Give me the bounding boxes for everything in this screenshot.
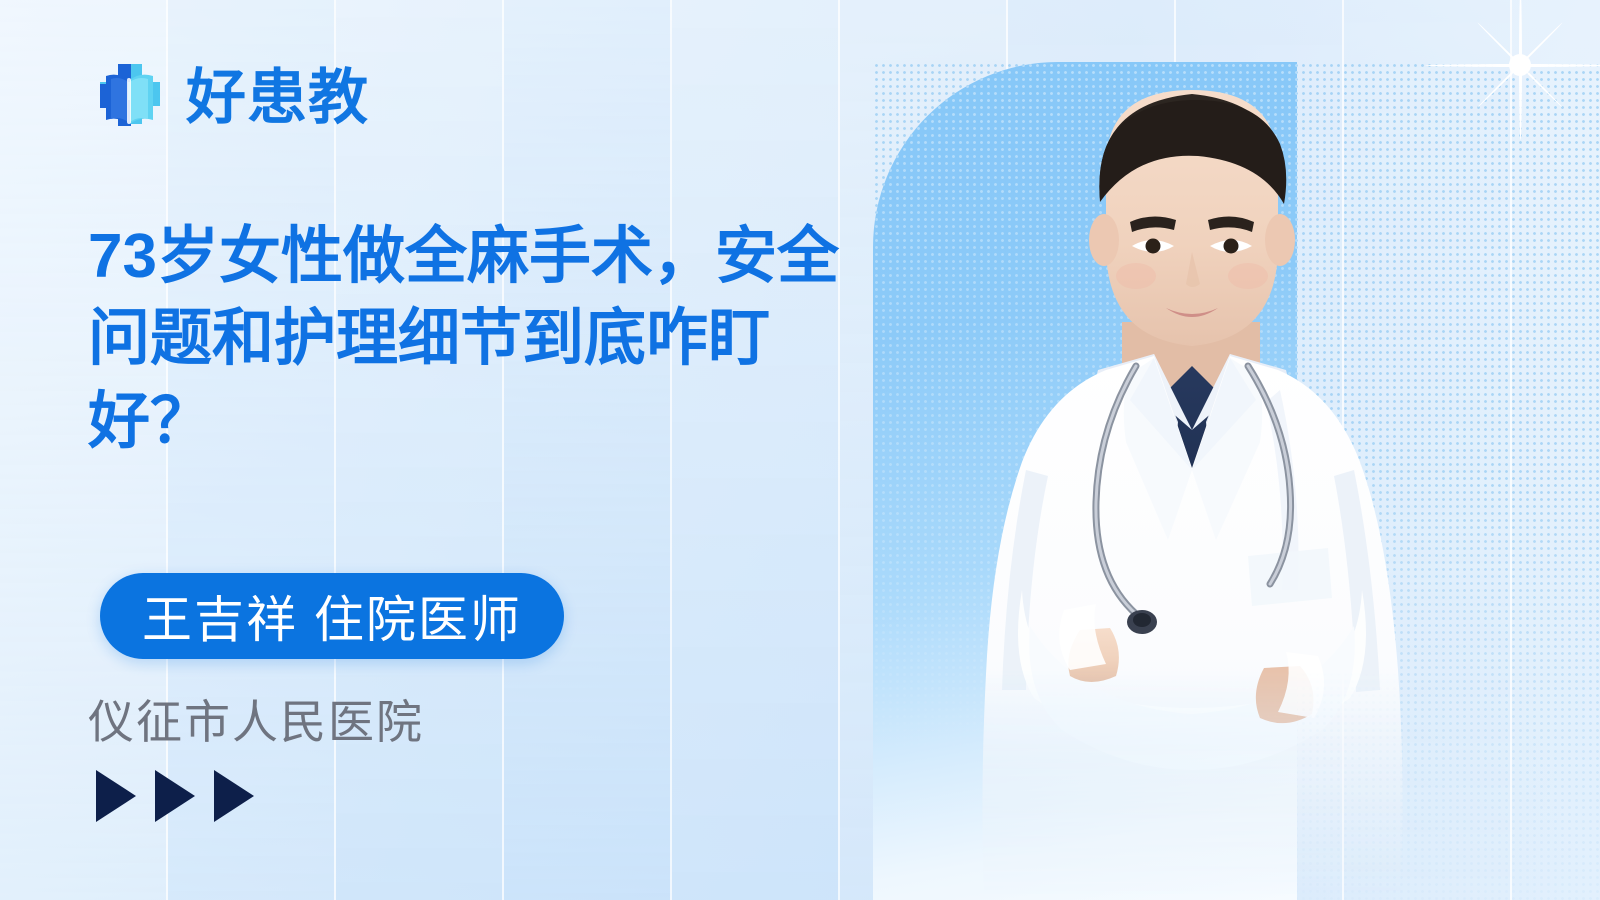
play-arrows-decoration [96,770,254,822]
brand-name: 好患教 [186,68,369,128]
sparkle-star-icon [1520,65,1521,66]
play-triangle-icon [96,770,136,822]
hospital-name: 仪征市人民医院 [88,686,424,752]
medical-cross-book-icon [88,56,172,140]
page-title: 73岁女性做全麻手术，安全问题和护理细节到底咋盯好？ [88,216,868,463]
play-triangle-icon [214,770,254,822]
brand-logo[interactable]: 好患教 [88,56,369,140]
poster-canvas: 好患教 73岁女性做全麻手术，安全问题和护理细节到底咋盯好？ 王吉祥 住院医师 … [0,0,1600,900]
doctor-name-badge[interactable]: 王吉祥 住院医师 [100,573,564,659]
doctor-portrait [930,70,1450,900]
play-triangle-icon [155,770,195,822]
